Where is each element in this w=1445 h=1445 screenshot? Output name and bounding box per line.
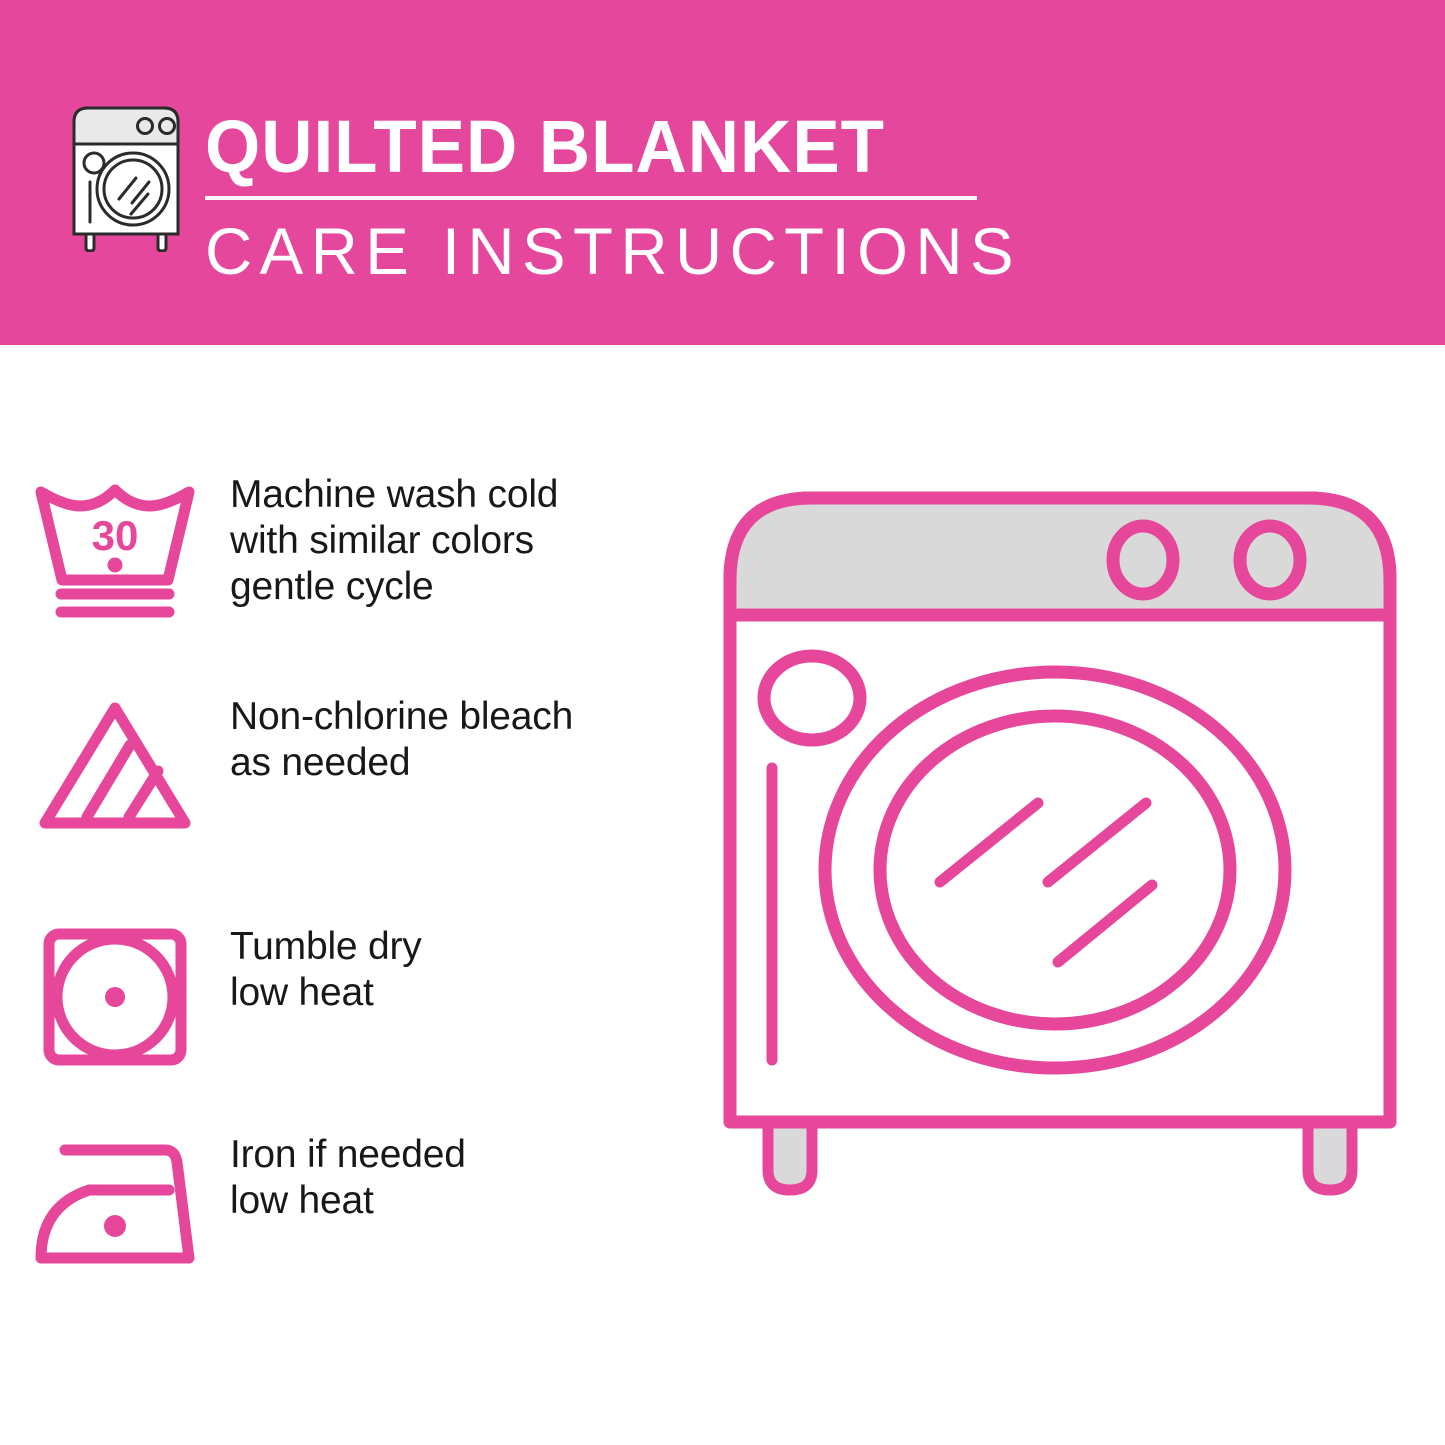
care-item-bleach: Non-chlorine bleach as needed <box>0 692 700 842</box>
washing-machine-illustration <box>700 470 1420 1370</box>
tumble-dry-low-icon <box>0 922 230 1072</box>
washer-indicator-button <box>764 656 860 740</box>
care-item-machine-wash: 30 Machine wash cold with similar colors… <box>0 470 700 620</box>
page-title: QUILTED BLANKET <box>205 104 963 190</box>
non-chlorine-bleach-triangle-icon <box>0 692 230 842</box>
wash-tub-30-gentle-icon: 30 <box>0 470 230 620</box>
care-item-label: Iron if needed low heat <box>230 1130 466 1224</box>
care-item-label: Machine wash cold with similar colors ge… <box>230 470 558 610</box>
washer-knob-2 <box>1240 526 1300 594</box>
page-subtitle: CARE INSTRUCTIONS <box>205 213 987 289</box>
iron-low-heat-icon <box>0 1130 230 1280</box>
header-band: QUILTED BLANKET CARE INSTRUCTIONS <box>0 0 1445 345</box>
title-divider <box>205 196 977 200</box>
washing-machine-logo-icon <box>64 104 188 252</box>
care-item-label: Non-chlorine bleach as needed <box>230 692 573 786</box>
washer-knob-1 <box>1113 526 1173 594</box>
header-title-block: QUILTED BLANKET CARE INSTRUCTIONS <box>205 104 995 289</box>
care-item-iron: Iron if needed low heat <box>0 1130 700 1280</box>
care-item-tumble-dry: Tumble dry low heat <box>0 922 700 1072</box>
care-item-label: Tumble dry low heat <box>230 922 422 1016</box>
wash-temperature-label: 30 <box>92 512 139 559</box>
